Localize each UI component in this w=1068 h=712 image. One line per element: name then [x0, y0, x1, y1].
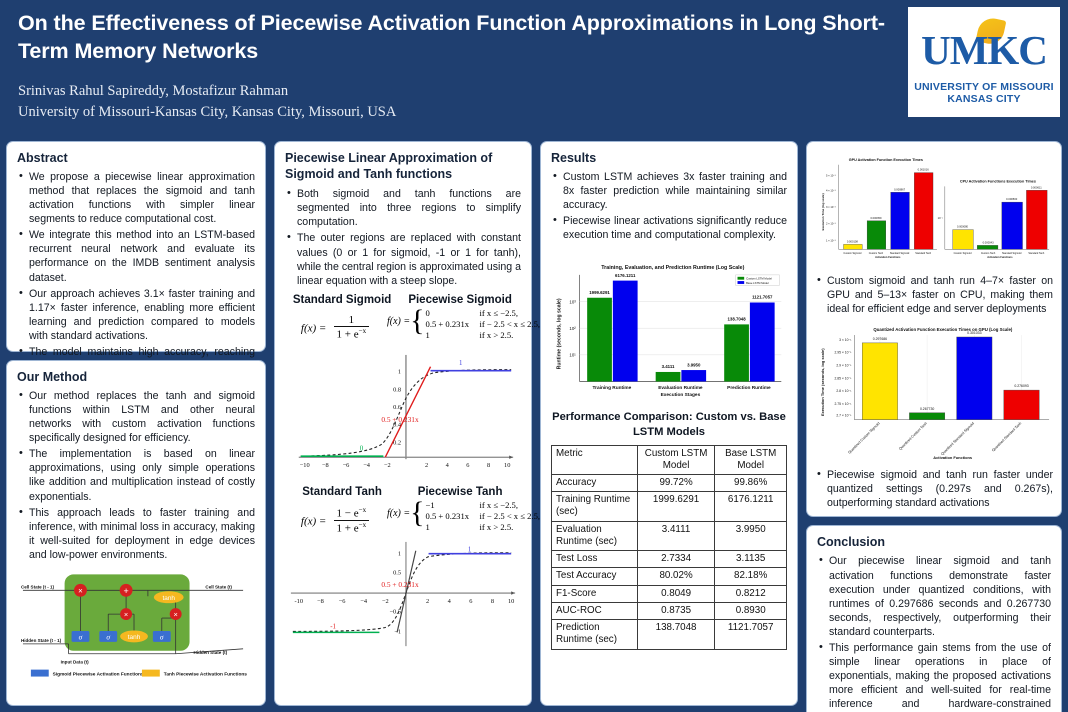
svg-text:Quantized Standard Sigmoid: Quantized Standard Sigmoid	[940, 422, 975, 457]
svg-text:2.8 × 10⁻¹: 2.8 × 10⁻¹	[836, 389, 852, 393]
svg-text:3.4111: 3.4111	[662, 365, 675, 370]
list-item: Piecewise sigmoid and tanh run faster un…	[815, 468, 1053, 510]
case-value: 1	[426, 522, 480, 532]
svg-text:0.267730: 0.267730	[920, 407, 934, 411]
case-value: 0.5 + 0.231x	[426, 511, 480, 521]
svg-text:2.85 × 10⁻¹: 2.85 × 10⁻¹	[835, 377, 853, 381]
svg-text:1: 1	[398, 550, 401, 557]
svg-text:0.000108: 0.000108	[847, 239, 859, 243]
gpu-cpu-charts: GPU Activation Function Execution Times …	[815, 146, 1053, 272]
logo-subtitle-line1: UNIVERSITY OF MISSOURI	[914, 81, 1054, 93]
svg-text:−8: −8	[322, 462, 329, 469]
svg-text:Custom LSTM Model: Custom LSTM Model	[746, 277, 772, 281]
results-card: Results Custom LSTM achieves 3x faster t…	[540, 141, 798, 706]
svg-text:6176.1211: 6176.1211	[615, 273, 636, 278]
academic-poster: On the Effectiveness of Piecewise Activa…	[0, 0, 1068, 712]
svg-text:Tanh Piecewise Activation Func: Tanh Piecewise Activation Functions	[164, 672, 247, 678]
list-item: This performance gain stems from the use…	[817, 641, 1051, 712]
svg-text:0.001016: 0.001016	[918, 168, 930, 172]
cell-custom: 80.02%	[637, 568, 715, 585]
svg-text:3.9950: 3.9950	[687, 363, 701, 368]
svg-text:2.95 × 10⁻¹: 2.95 × 10⁻¹	[835, 351, 853, 355]
svg-text:Quantized Custom Tanh: Quantized Custom Tanh	[898, 422, 928, 452]
table-row: F1-Score 0.8049 0.8212	[552, 585, 787, 602]
list-item: Our method replaces the tanh and sigmoid…	[17, 389, 255, 445]
table-row: AUC-ROC 0.8735 0.8930	[552, 602, 787, 619]
svg-text:Custom Sigmoid: Custom Sigmoid	[843, 252, 862, 255]
list-item: Our piecewise linear sigmoid and tanh ac…	[817, 554, 1051, 638]
table-header-row: Metric Custom LSTM Model Base LSTM Model	[552, 445, 787, 474]
list-item: Both sigmoid and tanh functions are segm…	[285, 187, 521, 229]
svg-text:×: ×	[173, 610, 177, 619]
svg-text:1: 1	[398, 369, 401, 376]
svg-text:10³: 10³	[569, 300, 576, 305]
tanh-formula-titles: Standard Tanh Piecewise Tanh	[285, 486, 521, 498]
quantized-gpu-chart: Quantized Activation Function Execution …	[815, 320, 1053, 472]
svg-text:4 × 10⁻³: 4 × 10⁻³	[826, 188, 836, 192]
poster-header: On the Effectiveness of Piecewise Activa…	[0, 0, 1068, 133]
svg-text:σ: σ	[106, 632, 110, 641]
x-axis-label: Execution Stages	[661, 392, 701, 398]
svg-text:6: 6	[466, 462, 469, 469]
svg-text:Custom Tanh: Custom Tanh	[869, 252, 884, 255]
lstm-cell-diagram: × + × × tanh σ σ	[17, 566, 255, 684]
standard-sigmoid-title: Standard Sigmoid	[285, 294, 399, 306]
gpu-chart-title: GPU Activation Function Execution Times	[849, 158, 923, 162]
affiliation: University of Missouri-Kansas City, Kans…	[18, 102, 890, 123]
svg-text:2.9 × 10⁻¹: 2.9 × 10⁻¹	[836, 364, 852, 368]
svg-text:2 × 10⁻³: 2 × 10⁻³	[826, 222, 836, 226]
svg-text:+: +	[123, 586, 128, 596]
svg-text:10²: 10²	[569, 326, 576, 331]
svg-text:-1: -1	[330, 623, 336, 630]
list-item: Custom LSTM achieves 3x faster training …	[551, 170, 787, 212]
svg-text:Cell State (t - 1): Cell State (t - 1)	[21, 584, 55, 589]
svg-text:−8: −8	[317, 598, 324, 605]
case-value: 0	[426, 308, 480, 318]
cell-custom: 0.8049	[637, 585, 715, 602]
list-item: We integrate this method into an LSTM-ba…	[17, 228, 255, 284]
cell-custom: 99.72%	[637, 474, 715, 491]
cell-metric: AUC-ROC	[552, 602, 638, 619]
tanh-den-exponent: −x	[359, 521, 366, 529]
svg-text:0.000080: 0.000080	[957, 225, 969, 229]
cell-base: 0.8212	[715, 585, 787, 602]
svg-text:Input Data (t): Input Data (t)	[61, 660, 90, 665]
conclusion-bullets: Our piecewise linear sigmoid and tanh ac…	[817, 554, 1051, 712]
svg-text:tanh: tanh	[162, 595, 175, 602]
table-row: Training Runtime (sec) 1999.6291 6176.12…	[552, 492, 787, 521]
cell-metric: Accuracy	[552, 474, 638, 491]
svg-text:Evaluation Runtime: Evaluation Runtime	[658, 385, 703, 391]
svg-text:1: 1	[468, 547, 472, 554]
svg-text:Hidden State (t - 1): Hidden State (t - 1)	[21, 638, 62, 643]
svg-text:0.000043: 0.000043	[983, 240, 995, 244]
svg-text:0.301033: 0.301033	[967, 331, 981, 335]
svg-text:2: 2	[426, 598, 429, 605]
umkc-logo: UMKC UNIVERSITY OF MISSOURI KANSAS CITY	[908, 7, 1060, 117]
case-value: −1	[426, 500, 480, 510]
svg-text:1 × 10⁻³: 1 × 10⁻³	[826, 238, 836, 242]
piecewise-tanh-formula: f(x) = { −1if x ≤ −2.5, 0.5 + 0.231xif −…	[387, 500, 521, 532]
svg-text:0.5: 0.5	[393, 569, 401, 576]
page-title: On the Effectiveness of Piecewise Activa…	[18, 10, 890, 65]
tanh-numerator: 1 − e	[337, 508, 359, 520]
abstract-card: Abstract We propose a piecewise linear a…	[6, 141, 266, 352]
runtime-log-chart: Training, Evaluation, and Prediction Run…	[551, 256, 787, 408]
sigmoid-exponent: −x	[359, 327, 366, 335]
svg-text:0.000500: 0.000500	[1006, 197, 1018, 201]
cell-base: 0.8930	[715, 602, 787, 619]
svg-text:1121.7057: 1121.7057	[752, 295, 773, 300]
svg-text:Custom Tanh: Custom Tanh	[981, 252, 996, 255]
logo-subtitle-line2: KANSAS CITY	[947, 93, 1020, 105]
results-heading: Results	[551, 151, 787, 165]
table-row: Evaluation Runtime (sec) 3.4111 3.9950	[552, 521, 787, 550]
svg-text:10¹: 10¹	[569, 353, 576, 358]
svg-text:Custom Sigmoid: Custom Sigmoid	[954, 252, 973, 255]
svg-text:−4: −4	[363, 462, 371, 469]
logo-wordmark: UMKC	[918, 26, 1050, 74]
table-title: Performance Comparison: Custom vs. Base …	[551, 410, 787, 439]
piecewise-heading: Piecewise Linear Approximation of Sigmoi…	[285, 151, 521, 182]
svg-text:0.6: 0.6	[393, 404, 401, 411]
case-brace: {	[410, 500, 424, 532]
svg-text:0.000359: 0.000359	[870, 216, 882, 220]
case-value: 1	[426, 330, 480, 340]
svg-text:Base LSTM Model: Base LSTM Model	[746, 281, 769, 285]
svg-text:3 × 10⁻³: 3 × 10⁻³	[826, 205, 836, 209]
svg-text:2.7 × 10⁻¹: 2.7 × 10⁻¹	[836, 414, 852, 418]
cell-custom: 0.8735	[637, 602, 715, 619]
cell-base: 99.86%	[715, 474, 787, 491]
svg-text:Quantized Standard Tanh: Quantized Standard Tanh	[991, 422, 1022, 453]
gpu-cpu-note: Custom sigmoid and tanh run 4–7× faster …	[815, 274, 1053, 316]
svg-text:3 × 10⁻¹: 3 × 10⁻¹	[839, 338, 852, 342]
list-item: The implementation is based on linear ap…	[17, 447, 255, 503]
conclusion-card: Conclusion Our piecewise linear sigmoid …	[806, 525, 1062, 712]
cell-metric: Test Accuracy	[552, 568, 638, 585]
y-axis-label: Execution Time (seconds, log scale)	[820, 348, 825, 416]
svg-text:Standard Tanh: Standard Tanh	[1028, 252, 1044, 255]
svg-text:0.000611: 0.000611	[1031, 185, 1042, 189]
piecewise-sigmoid-formula: f(x) = { 0if x ≤ −2.5, 0.5 + 0.231xif − …	[387, 308, 521, 340]
svg-text:−0.5: −0.5	[389, 608, 401, 615]
case-brace: {	[410, 308, 424, 340]
tanh-num-exponent: −x	[359, 506, 366, 514]
table-row: Accuracy 99.72% 99.86%	[552, 474, 787, 491]
svg-text:−2: −2	[384, 462, 391, 469]
svg-text:0.276093: 0.276093	[1014, 384, 1028, 388]
svg-text:×: ×	[78, 586, 83, 595]
standard-tanh-title: Standard Tanh	[285, 486, 399, 498]
svg-text:−4: −4	[360, 598, 368, 605]
case-value: 0.5 + 0.231x	[426, 319, 480, 329]
cell-custom: 3.4111	[637, 521, 715, 550]
svg-text:σ: σ	[160, 632, 164, 641]
svg-text:8: 8	[491, 598, 494, 605]
list-item: We propose a piecewise linear approximat…	[17, 170, 255, 226]
svg-text:10: 10	[508, 598, 514, 605]
column-header-custom: Custom LSTM Model	[637, 445, 715, 474]
column-1: Abstract We propose a piecewise linear a…	[6, 141, 266, 706]
list-item: This approach leads to faster training a…	[17, 506, 255, 562]
cell-base: 3.1135	[715, 551, 787, 568]
conclusion-heading: Conclusion	[817, 535, 1051, 549]
svg-text:Quantized Custom Sigmoid: Quantized Custom Sigmoid	[847, 422, 880, 455]
abstract-heading: Abstract	[17, 151, 255, 165]
piecewise-card: Piecewise Linear Approximation of Sigmoi…	[274, 141, 532, 706]
our-method-card: Our Method Our method replaces the tanh …	[6, 360, 266, 706]
svg-text:−6: −6	[339, 598, 346, 605]
svg-text:-10: -10	[295, 598, 304, 605]
svg-text:−6: −6	[343, 462, 350, 469]
svg-text:10: 10	[504, 462, 510, 469]
x-axis-label: Activation Functions	[933, 455, 973, 460]
svg-text:4: 4	[446, 462, 450, 469]
svg-text:10⁻¹: 10⁻¹	[938, 216, 943, 220]
author-list: Srinivas Rahul Sapireddy, Mostafizur Rah…	[18, 81, 890, 102]
list-item: The outer regions are replaced with cons…	[285, 231, 521, 287]
svg-text:−2: −2	[382, 598, 389, 605]
svg-text:2.75 × 10⁻¹: 2.75 × 10⁻¹	[835, 402, 853, 406]
list-item: Our approach achieves 3.1× faster traini…	[17, 287, 255, 343]
svg-text:8: 8	[487, 462, 490, 469]
svg-text:1999.6291: 1999.6291	[589, 290, 610, 295]
column-header-base: Base LSTM Model	[715, 445, 787, 474]
gpu-cpu-card: GPU Activation Function Execution Times …	[806, 141, 1062, 517]
table-row: Prediction Runtime (sec) 138.7048 1121.7…	[552, 620, 787, 649]
cpu-chart-title: CPU Activation Functions Execution Times	[960, 179, 1036, 183]
svg-text:Training Runtime: Training Runtime	[593, 385, 632, 391]
cell-custom: 138.7048	[637, 620, 715, 649]
cell-metric: Prediction Runtime (sec)	[552, 620, 638, 649]
svg-text:−10: −10	[300, 462, 310, 469]
cell-base: 6176.1211	[715, 492, 787, 521]
cell-base: 82.18%	[715, 568, 787, 585]
piecewise-bullets: Both sigmoid and tanh functions are segm…	[285, 187, 521, 288]
y-axis-label: Runtime (seconds, log scale)	[557, 299, 563, 370]
column-3: Results Custom LSTM achieves 3x faster t…	[540, 141, 798, 706]
cell-metric: Evaluation Runtime (sec)	[552, 521, 638, 550]
svg-text:Standard Tanh: Standard Tanh	[915, 252, 931, 255]
svg-text:1: 1	[459, 360, 463, 367]
standard-tanh-formula: f(x) = 1 − e−x 1 + e−x	[285, 500, 385, 534]
cell-custom: 2.7334	[637, 551, 715, 568]
svg-text:Execution Time (log scale): Execution Time (log scale)	[821, 193, 825, 230]
cell-base: 1121.7057	[715, 620, 787, 649]
svg-text:Standard Sigmoid: Standard Sigmoid	[890, 252, 910, 255]
table-row: Test Loss 2.7334 3.1135	[552, 551, 787, 568]
quantized-note: Piecewise sigmoid and tanh run faster un…	[815, 468, 1053, 510]
our-method-heading: Our Method	[17, 370, 255, 384]
svg-text:0.297686: 0.297686	[873, 337, 887, 341]
sigmoid-numerator: 1	[334, 314, 370, 326]
svg-text:6: 6	[469, 598, 472, 605]
column-2: Piecewise Linear Approximation of Sigmoi…	[274, 141, 532, 706]
sigmoid-denominator: 1 + e	[337, 328, 359, 340]
tanh-formulas: f(x) = 1 − e−x 1 + e−x f(x) = { −1if x ≤…	[285, 500, 521, 534]
chart-title: Training, Evaluation, and Prediction Run…	[601, 266, 744, 272]
cell-custom: 1999.6291	[637, 492, 715, 521]
column-header-metric: Metric	[552, 445, 638, 474]
standard-sigmoid-formula: f(x) = 1 1 + e−x	[285, 308, 385, 341]
svg-text:Activation Functions: Activation Functions	[875, 255, 901, 259]
table-row: Test Accuracy 80.02% 82.18%	[552, 568, 787, 585]
svg-text:Cell State (t): Cell State (t)	[205, 584, 232, 589]
sigmoid-formula-titles: Standard Sigmoid Piecewise Sigmoid	[285, 294, 521, 306]
svg-text:Activation Functions: Activation Functions	[987, 255, 1013, 259]
results-bullets: Custom LSTM achieves 3x faster training …	[551, 170, 787, 242]
svg-text:4: 4	[448, 598, 452, 605]
cell-base: 3.9950	[715, 521, 787, 550]
sigmoid-plot: 1 0.8 0.6 0.4 0.2 −10 −8 −6 −4 −2 2 4 6	[285, 340, 521, 480]
svg-text:138.7048: 138.7048	[727, 317, 746, 322]
list-item: Custom sigmoid and tanh run 4–7× faster …	[815, 274, 1053, 316]
chart-title: Quantized Activation Function Execution …	[873, 327, 1013, 332]
sigmoid-formulas: f(x) = 1 1 + e−x f(x) = { 0if x ≤ −2.5,	[285, 308, 521, 341]
svg-text:Sigmoid Piecewise Activation F: Sigmoid Piecewise Activation Functions	[53, 672, 144, 678]
svg-text:5 × 10⁻³: 5 × 10⁻³	[826, 174, 836, 178]
poster-body: Abstract We propose a piecewise linear a…	[0, 133, 1068, 712]
tanh-plot: 1 0.5 −0.5 −1 -10 −8 −6 −4 −2 2 4 6 8	[285, 535, 521, 657]
logo-mark: UMKC	[918, 20, 1050, 80]
svg-text:Standard Sigmoid: Standard Sigmoid	[1002, 252, 1022, 255]
tanh-denominator: 1 + e	[337, 523, 359, 535]
cell-metric: Test Loss	[552, 551, 638, 568]
cell-metric: Training Runtime (sec)	[552, 492, 638, 521]
svg-text:×: ×	[124, 610, 128, 619]
svg-text:Hidden State (t): Hidden State (t)	[194, 650, 228, 655]
our-method-bullets: Our method replaces the tanh and sigmoid…	[17, 389, 255, 562]
column-4: GPU Activation Function Execution Times …	[806, 141, 1062, 706]
header-text-block: On the Effectiveness of Piecewise Activa…	[0, 0, 890, 123]
performance-comparison-table: Metric Custom LSTM Model Base LSTM Model…	[551, 445, 787, 650]
svg-text:tanh: tanh	[128, 634, 141, 641]
svg-text:0.8: 0.8	[393, 387, 401, 394]
list-item: Piecewise linear activations significant…	[551, 214, 787, 242]
svg-text:Prediction Runtime: Prediction Runtime	[727, 385, 771, 391]
svg-text:2: 2	[425, 462, 428, 469]
svg-text:0.000867: 0.000867	[894, 187, 906, 191]
tanh-line-equation: 0.5 + 0.231x	[381, 580, 419, 589]
cell-metric: F1-Score	[552, 585, 638, 602]
sigmoid-line-equation: 0.5 + 0.231x	[381, 415, 419, 424]
svg-text:0: 0	[360, 446, 364, 453]
svg-text:σ: σ	[79, 632, 83, 641]
